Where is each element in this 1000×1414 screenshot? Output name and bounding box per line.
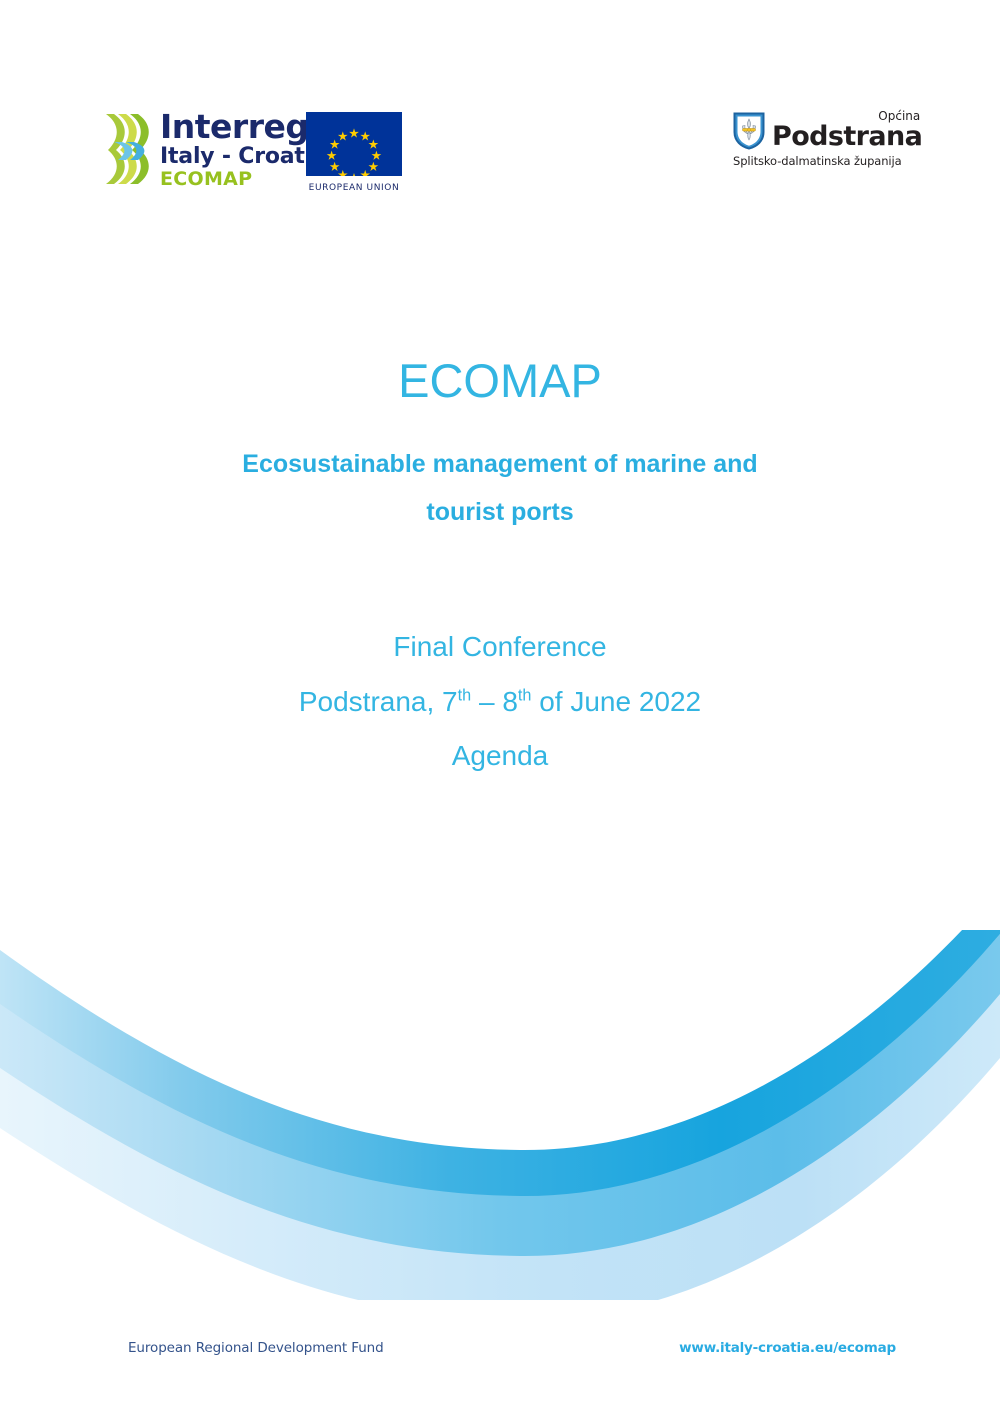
interreg-title: Interreg (160, 110, 327, 144)
conference-date-line: Podstrana, 7th – 8th of June 2022 (100, 675, 900, 730)
page-footer: European Regional Development Fund www.i… (0, 1340, 1000, 1380)
ordinal-suffix-second: th (518, 686, 532, 704)
interreg-wave-ribbons-icon (104, 108, 152, 190)
european-union-logo: EUROPEAN UNION (306, 112, 402, 193)
conference-name: Final Conference (100, 620, 900, 675)
interreg-project-name: ECOMAP (160, 169, 327, 191)
conference-date-dash: – 8 (471, 686, 518, 717)
conference-details: Final Conference Podstrana, 7th – 8th of… (100, 620, 900, 784)
podstrana-logo: Općina Podstrana Splitsko-dalmatinska žu… (733, 110, 903, 168)
page-header: Interreg Italy - Croatia ECOMAP (0, 0, 1000, 230)
page-subtitle-line-1: Ecosustainable management of marine and (100, 440, 900, 489)
page-title: ECOMAP (100, 355, 900, 407)
interreg-wave-banner-graphic (0, 930, 1000, 1300)
programme-website-link[interactable]: www.italy-croatia.eu/ecomap (679, 1340, 896, 1356)
document-type: Agenda (100, 729, 900, 784)
european-union-caption: EUROPEAN UNION (306, 183, 402, 193)
podstrana-logo-row: Općina Podstrana (733, 110, 903, 150)
document-page: Interreg Italy - Croatia ECOMAP (0, 0, 1000, 1414)
fund-label: European Regional Development Fund (128, 1340, 384, 1356)
podstrana-wordmark: Općina Podstrana (772, 110, 922, 150)
title-block: ECOMAP Ecosustainable management of mari… (100, 355, 900, 537)
interreg-programme: Italy - Croatia (160, 144, 327, 169)
podstrana-name: Podstrana (772, 123, 922, 150)
conference-place: Podstrana, 7 (299, 686, 458, 717)
podstrana-county: Splitsko-dalmatinska županija (733, 154, 903, 168)
european-union-flag-icon (306, 112, 402, 176)
page-subtitle-line-2: tourist ports (100, 488, 900, 537)
podstrana-coat-of-arms-icon (733, 112, 765, 150)
interreg-wordmark: Interreg Italy - Croatia ECOMAP (160, 108, 327, 191)
conference-date-suffix: of June 2022 (531, 686, 701, 717)
interreg-logo: Interreg Italy - Croatia ECOMAP (104, 108, 327, 191)
ordinal-suffix-first: th (458, 686, 472, 704)
